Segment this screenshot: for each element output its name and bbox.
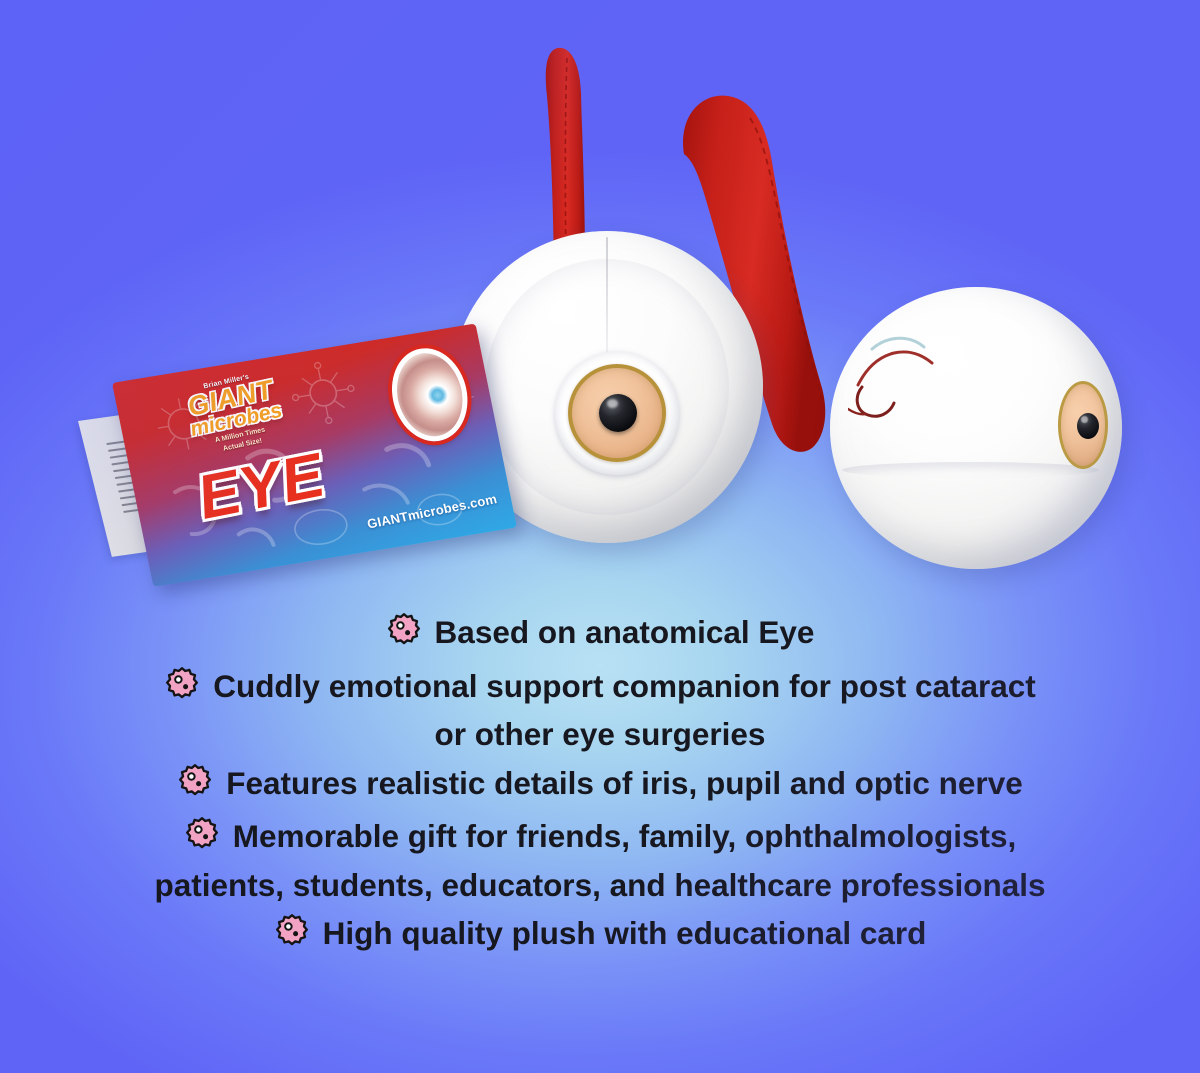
feature-text: Features realistic details of iris, pupi… xyxy=(226,765,1022,801)
feature-item-continuation: or other eye surgeries xyxy=(0,719,1200,751)
feature-item-continuation: patients, students, educators, and healt… xyxy=(0,870,1200,902)
educational-card: Brian Miller's GIANT microbes A Million … xyxy=(78,383,478,628)
pupil-right xyxy=(1077,413,1099,439)
feature-item: Memorable gift for friends, family, opht… xyxy=(0,816,1200,858)
fabric-seam xyxy=(842,462,1099,478)
feature-item: Cuddly emotional support companion for p… xyxy=(0,666,1200,708)
microbe-icon xyxy=(177,763,213,805)
card-front: Brian Miller's GIANT microbes A Million … xyxy=(112,323,517,586)
feature-item: High quality plush with educational card xyxy=(0,913,1200,955)
microbe-icon xyxy=(164,666,200,708)
feature-item: Features realistic details of iris, pupi… xyxy=(0,763,1200,805)
pupil-left xyxy=(599,394,637,432)
feature-text: or other eye surgeries xyxy=(435,716,766,752)
blood-vessel-embroidery xyxy=(848,313,978,433)
feature-item: Based on anatomical Eye xyxy=(0,612,1200,654)
product-image-stage: Brian Miller's GIANT microbes A Million … xyxy=(0,0,1200,1073)
feature-text: patients, students, educators, and healt… xyxy=(155,867,1046,903)
feature-text: Cuddly emotional support companion for p… xyxy=(213,668,1036,704)
microbe-icon xyxy=(274,913,310,955)
feature-text: Based on anatomical Eye xyxy=(435,614,815,650)
eye-plush-right xyxy=(830,287,1122,569)
feature-text: Memorable gift for friends, family, opht… xyxy=(233,818,1017,854)
feature-list: Based on anatomical Eye Cuddly emotional… xyxy=(0,612,1200,967)
feature-text: High quality plush with educational card xyxy=(323,915,927,951)
microbe-icon xyxy=(184,816,220,858)
microbe-icon xyxy=(386,612,422,654)
